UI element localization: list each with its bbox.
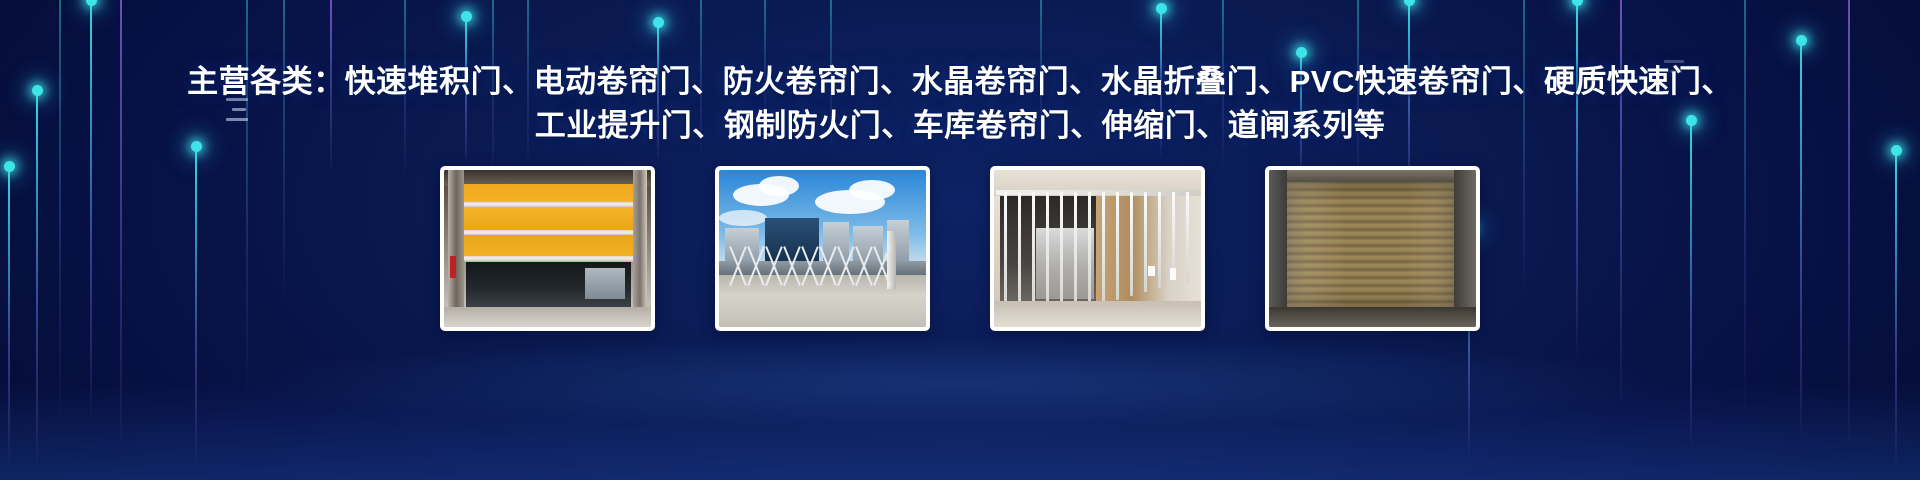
headline-line-1: 主营各类：快速堆积门、电动卷帘门、防火卷帘门、水晶卷帘门、水晶折叠门、PVC快速… — [0, 60, 1920, 104]
headline-line-2: 工业提升门、钢制防火门、车库卷帘门、伸缩门、道闸系列等 — [0, 104, 1920, 148]
product-photo-4[interactable] — [1265, 166, 1480, 331]
retractable-gate-image — [719, 170, 926, 327]
high-speed-door-image — [444, 170, 651, 327]
product-photo-1[interactable] — [440, 166, 655, 331]
product-gallery — [0, 166, 1920, 331]
product-photo-2[interactable] — [715, 166, 930, 331]
promo-banner: 主营各类：快速堆积门、电动卷帘门、防火卷帘门、水晶卷帘门、水晶折叠门、PVC快速… — [0, 0, 1920, 480]
headline-block: 主营各类：快速堆积门、电动卷帘门、防火卷帘门、水晶卷帘门、水晶折叠门、PVC快速… — [0, 60, 1920, 148]
dotted-mesh-wave — [0, 445, 1920, 480]
folding-door-image — [994, 170, 1201, 327]
roller-shutter-image — [1269, 170, 1476, 327]
product-photo-3[interactable] — [990, 166, 1205, 331]
